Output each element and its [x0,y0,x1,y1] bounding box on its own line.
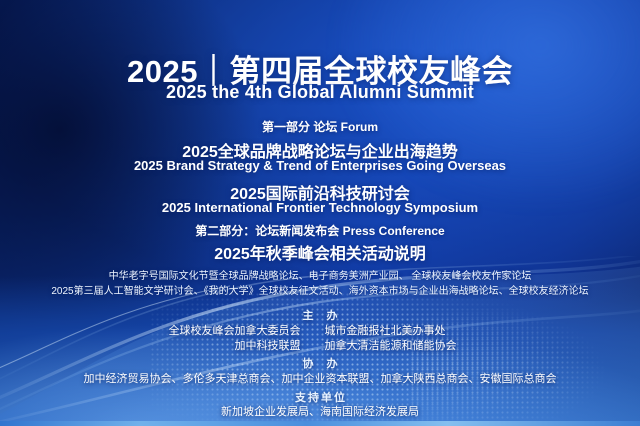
part-two-label: 第二部分：论坛新闻发布会 Press Conference [0,222,640,239]
summit-poster: 2025｜第四届全球校友峰会 2025 the 4th Global Alumn… [0,0,640,426]
page-title-en: 2025 the 4th Global Alumni Summit [0,82,640,103]
part-one-label: 第一部分 论坛 Forum [0,118,640,135]
activity-detail-line-2: 2025第三届人工智能文学研讨会、《我的大学》全球校友征文活动、海外资本市场与企… [0,282,640,297]
host-row-1: 全球校友峰会加拿大委员会 城市金融报社北美办事处 [0,322,640,338]
host-row-1-right: 城市金融报社北美办事处 [313,322,500,338]
part-two-heading: 2025年秋季峰会相关活动说明 [0,240,640,264]
coorganizer-line: 加中经济贸易协会、多伦多天津总商会、加中企业资本联盟、加拿大陕西总商会、安徽国际… [0,370,640,386]
host-label: 主 办 [0,307,640,323]
host-row-2-left: 加中科技联盟 [141,337,313,353]
host-row-2: 加中科技联盟 加拿大清洁能源和储能协会 [0,337,640,353]
support-line: 新加坡企业发展局、海南国际经济发展局 [0,403,640,419]
forum-item-2-en: 2025 International Frontier Technology S… [0,200,640,215]
host-row-2-right: 加拿大清洁能源和储能协会 [313,337,500,353]
coorganizer-label: 协 办 [0,355,640,371]
activity-detail-line-1: 中华老字号国际文化节暨全球品牌战略论坛、电子商务美洲产业园、 全球校友峰会校友作… [0,267,640,282]
poster-content: 2025｜第四届全球校友峰会 2025 the 4th Global Alumn… [0,0,640,426]
host-row-1-left: 全球校友峰会加拿大委员会 [141,322,313,338]
forum-item-1-en: 2025 Brand Strategy & Trend of Enterpris… [0,158,640,173]
